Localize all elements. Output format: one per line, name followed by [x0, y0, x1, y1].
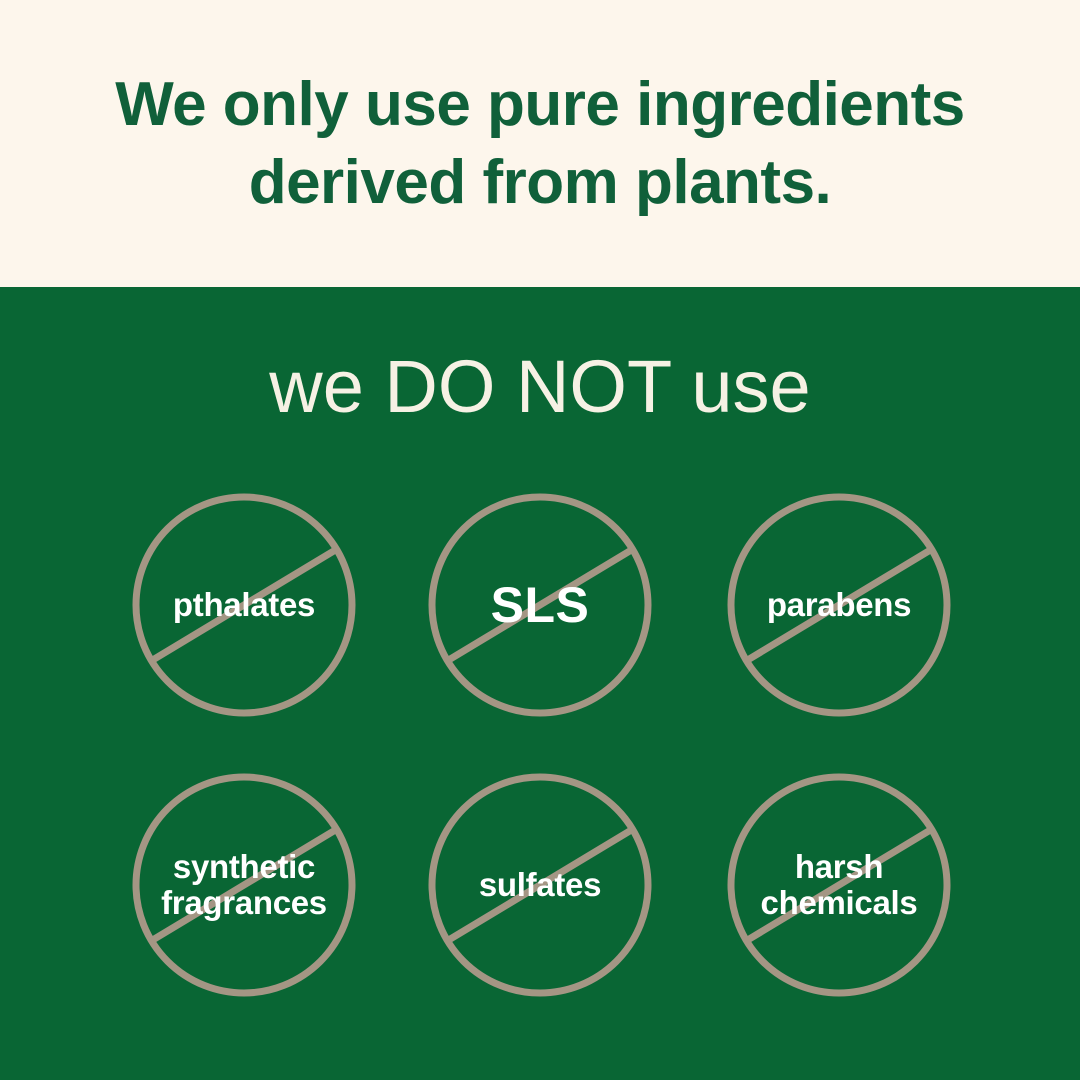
badge-pthalates: pthalates [131, 492, 357, 718]
excluded-ingredients-grid: pthalates SLS parabens [0, 287, 1080, 1080]
badge-sulfates: sulfates [427, 772, 653, 998]
headline-line-2: derived from plants. [40, 144, 1040, 222]
no-entry-icon [726, 772, 952, 998]
promo-graphic: We only use pure ingredients derived fro… [0, 0, 1080, 1080]
no-entry-icon [427, 492, 653, 718]
badge-harsh-chemicals: harsh chemicals [726, 772, 952, 998]
badge-parabens: parabens [726, 492, 952, 718]
headline-line-1: We only use pure ingredients [40, 66, 1040, 144]
headline-band: We only use pure ingredients derived fro… [0, 0, 1080, 287]
badge-synthetic-fragrances: synthetic fragrances [131, 772, 357, 998]
do-not-use-section: we DO NOT use pthalates SLS [0, 287, 1080, 1080]
no-entry-icon [131, 772, 357, 998]
no-entry-icon [131, 492, 357, 718]
no-entry-icon [427, 772, 653, 998]
no-entry-icon [726, 492, 952, 718]
page-title: We only use pure ingredients derived fro… [40, 66, 1040, 221]
badge-sls: SLS [427, 492, 653, 718]
